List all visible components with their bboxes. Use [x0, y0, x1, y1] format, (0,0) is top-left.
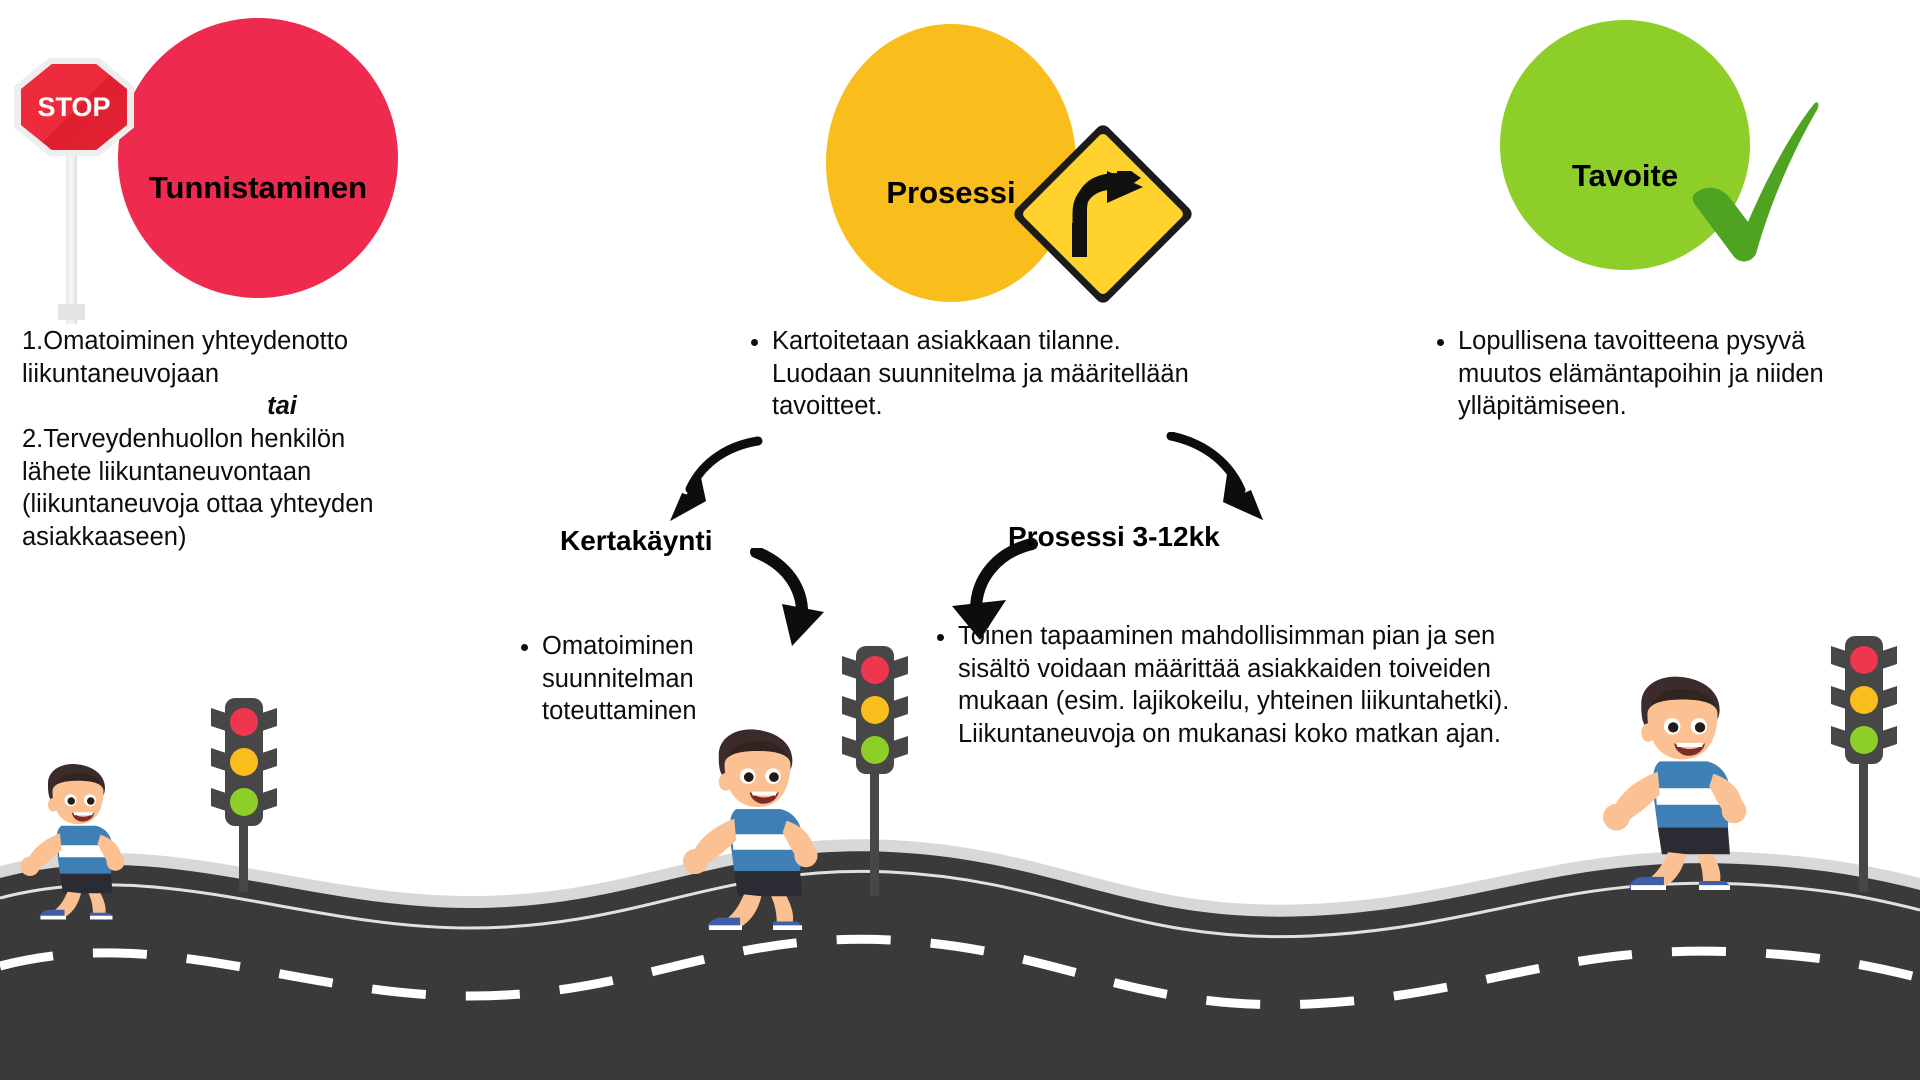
left-line-3: 2.Terveydenhuollon henkilön	[22, 423, 542, 456]
middle-column-text: Kartoitetaan asiakkaan tilanne. Luodaan …	[742, 325, 1212, 423]
running-boy-icon	[1600, 672, 1765, 895]
stage-label-tavoite: Tavoite	[1572, 158, 1678, 194]
running-boy-icon	[18, 760, 138, 925]
traffic-light-icon	[205, 692, 283, 897]
branch-heading-prosessi: Prosessi 3-12kk	[1008, 521, 1220, 553]
left-line-4: lähete liikuntaneuvontaan	[22, 456, 542, 489]
right-bullet-list: Lopullisena tavoitteena pysyvä muutos el…	[1428, 325, 1848, 423]
left-line-2: liikuntaneuvojaan	[22, 358, 542, 391]
stop-sign-post	[66, 134, 77, 324]
branch-right-text: Toinen tapaaminen mahdollisimman pian ja…	[928, 620, 1528, 751]
infographic-canvas: Tunnistaminen STOP 1.Omatoiminen yhteyde…	[0, 0, 1920, 1080]
stop-sign-foot	[58, 304, 85, 320]
middle-bullet-list: Kartoitetaan asiakkaan tilanne. Luodaan …	[742, 325, 1212, 423]
running-boy-icon	[680, 725, 835, 935]
stage-label-prosessi: Prosessi	[886, 175, 1015, 211]
list-item: Toinen tapaaminen mahdollisimman pian ja…	[958, 620, 1528, 751]
branch-left-text: Omatoiminen suunnitelman toteuttaminen	[512, 630, 762, 728]
list-item: Kartoitetaan asiakkaan tilanne. Luodaan …	[772, 325, 1212, 423]
left-line-6: asiakkaaseen)	[22, 521, 542, 554]
green-check-icon	[1690, 98, 1820, 263]
curve-arrow-glyph	[1065, 171, 1143, 257]
stop-sign-text: STOP	[37, 92, 110, 123]
list-item: Omatoiminen suunnitelman toteuttaminen	[542, 630, 762, 728]
curved-arrow-down-right-icon	[1165, 432, 1275, 529]
stage-circle-red: Tunnistaminen	[118, 18, 398, 298]
curved-arrow-down-left-icon	[660, 435, 770, 530]
left-separator-tai: tai	[22, 390, 542, 423]
curve-right-sign-icon	[1038, 149, 1168, 279]
left-line-5: (liikuntaneuvoja ottaa yhteyden	[22, 488, 542, 521]
right-column-text: Lopullisena tavoitteena pysyvä muutos el…	[1428, 325, 1848, 423]
left-column-text: 1.Omatoiminen yhteydenotto liikuntaneuvo…	[22, 325, 542, 553]
list-item: Lopullisena tavoitteena pysyvä muutos el…	[1458, 325, 1848, 423]
stage-label-tunnistaminen: Tunnistaminen	[149, 170, 367, 206]
left-line-1: 1.Omatoiminen yhteydenotto	[22, 325, 542, 358]
traffic-light-icon	[836, 640, 914, 901]
branch-left-bullet-list: Omatoiminen suunnitelman toteuttaminen	[512, 630, 762, 728]
stop-sign-face: STOP	[21, 64, 127, 150]
stop-sign-icon: STOP	[14, 58, 134, 318]
traffic-light-icon	[1825, 630, 1903, 897]
branch-right-bullet-list: Toinen tapaaminen mahdollisimman pian ja…	[928, 620, 1528, 751]
branch-heading-kertakaynti: Kertakäynti	[560, 525, 713, 557]
